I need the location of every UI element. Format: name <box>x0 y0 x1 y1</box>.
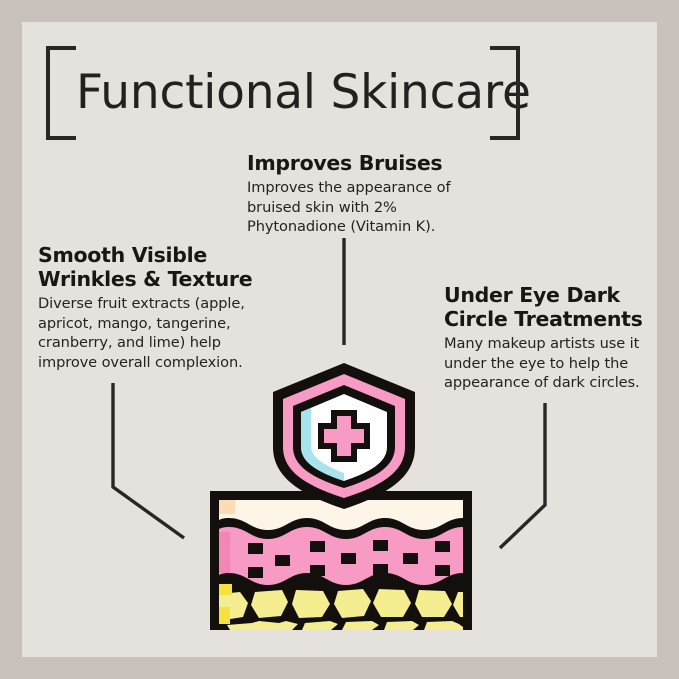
callout-wrinkles-title: Smooth Visible Wrinkles & Texture <box>38 243 253 291</box>
callout-bruises: Improves Bruises Improves the appearance… <box>247 151 457 236</box>
callout-bruises-body: Improves the appearance of bruised skin … <box>247 178 457 236</box>
callout-darkcircles-body: Many makeup artists use it under the eye… <box>444 334 659 392</box>
page-title-text: Functional Skincare <box>76 46 490 140</box>
callout-darkcircles: Under Eye Dark Circle Treatments Many ma… <box>444 283 659 393</box>
bracket-right-icon <box>490 46 520 140</box>
callout-wrinkles: Smooth Visible Wrinkles & Texture Divers… <box>38 243 253 372</box>
infographic-canvas: Functional Skincare Improves Bruises Imp… <box>0 0 679 679</box>
callout-wrinkles-body: Diverse fruit extracts (apple, apricot, … <box>38 294 253 372</box>
bracket-left-icon <box>46 46 76 140</box>
callout-bruises-title: Improves Bruises <box>247 151 457 175</box>
page-title: Functional Skincare <box>46 46 520 140</box>
callout-darkcircles-title: Under Eye Dark Circle Treatments <box>444 283 659 331</box>
